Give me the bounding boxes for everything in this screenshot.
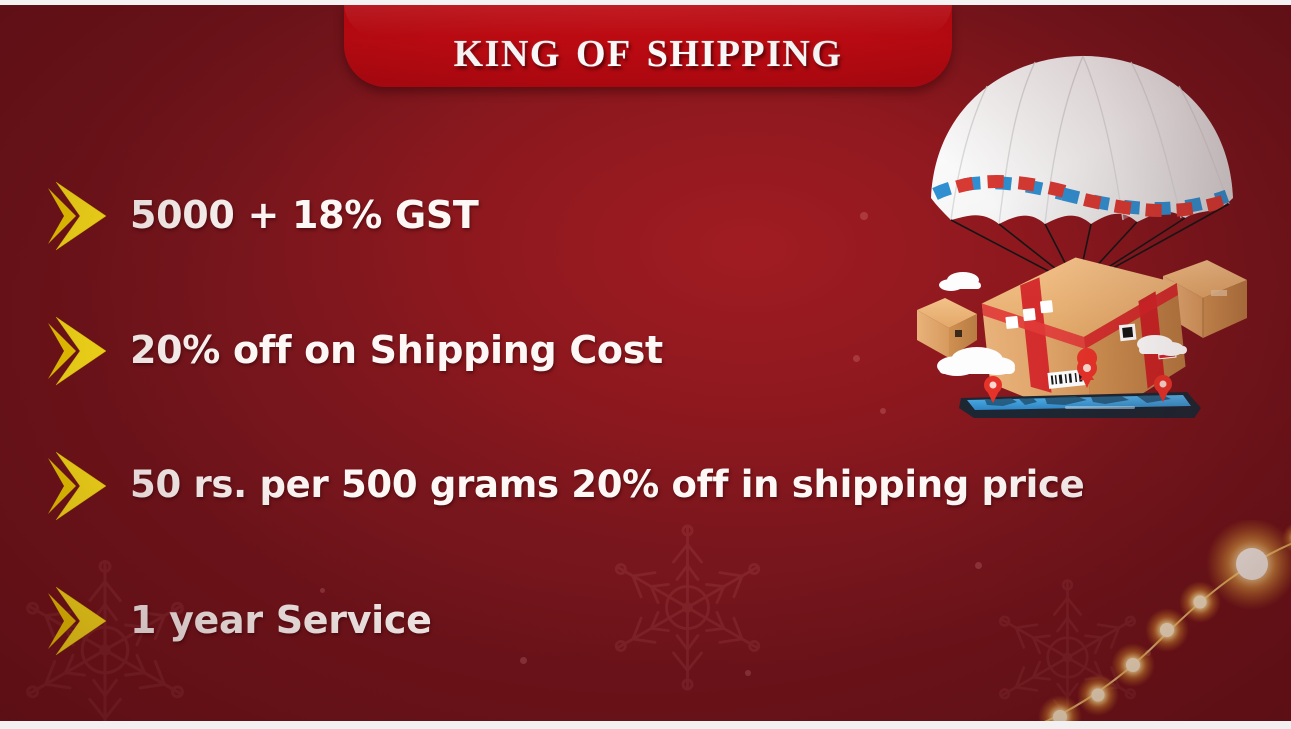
offer-text: 50 rs. per 500 grams 20% off in shipping… xyxy=(130,465,1084,506)
page-title: King of Shipping xyxy=(454,15,843,75)
offers-list: 5000 + 18% GST 20% off on Shipping Cost xyxy=(46,148,1236,688)
double-chevron-icon xyxy=(46,180,108,252)
top-edge-band xyxy=(0,0,1291,5)
bottom-edge-band xyxy=(0,721,1291,729)
banner-title-pill: King of Shipping xyxy=(344,3,952,87)
double-chevron-icon xyxy=(46,315,108,387)
offer-text: 5000 + 18% GST xyxy=(130,195,479,237)
list-item: 5000 + 18% GST xyxy=(46,148,1236,283)
offer-text: 1 year Service xyxy=(130,600,432,642)
double-chevron-icon xyxy=(46,585,108,657)
list-item: 50 rs. per 500 grams 20% off in shipping… xyxy=(46,418,1236,553)
list-item: 20% off on Shipping Cost xyxy=(46,283,1236,418)
promo-banner: King of Shipping 5000 + 18% GST xyxy=(0,0,1291,729)
offer-text: 20% off on Shipping Cost xyxy=(130,330,663,372)
double-chevron-icon xyxy=(46,450,108,522)
list-item: 1 year Service xyxy=(46,553,1236,688)
